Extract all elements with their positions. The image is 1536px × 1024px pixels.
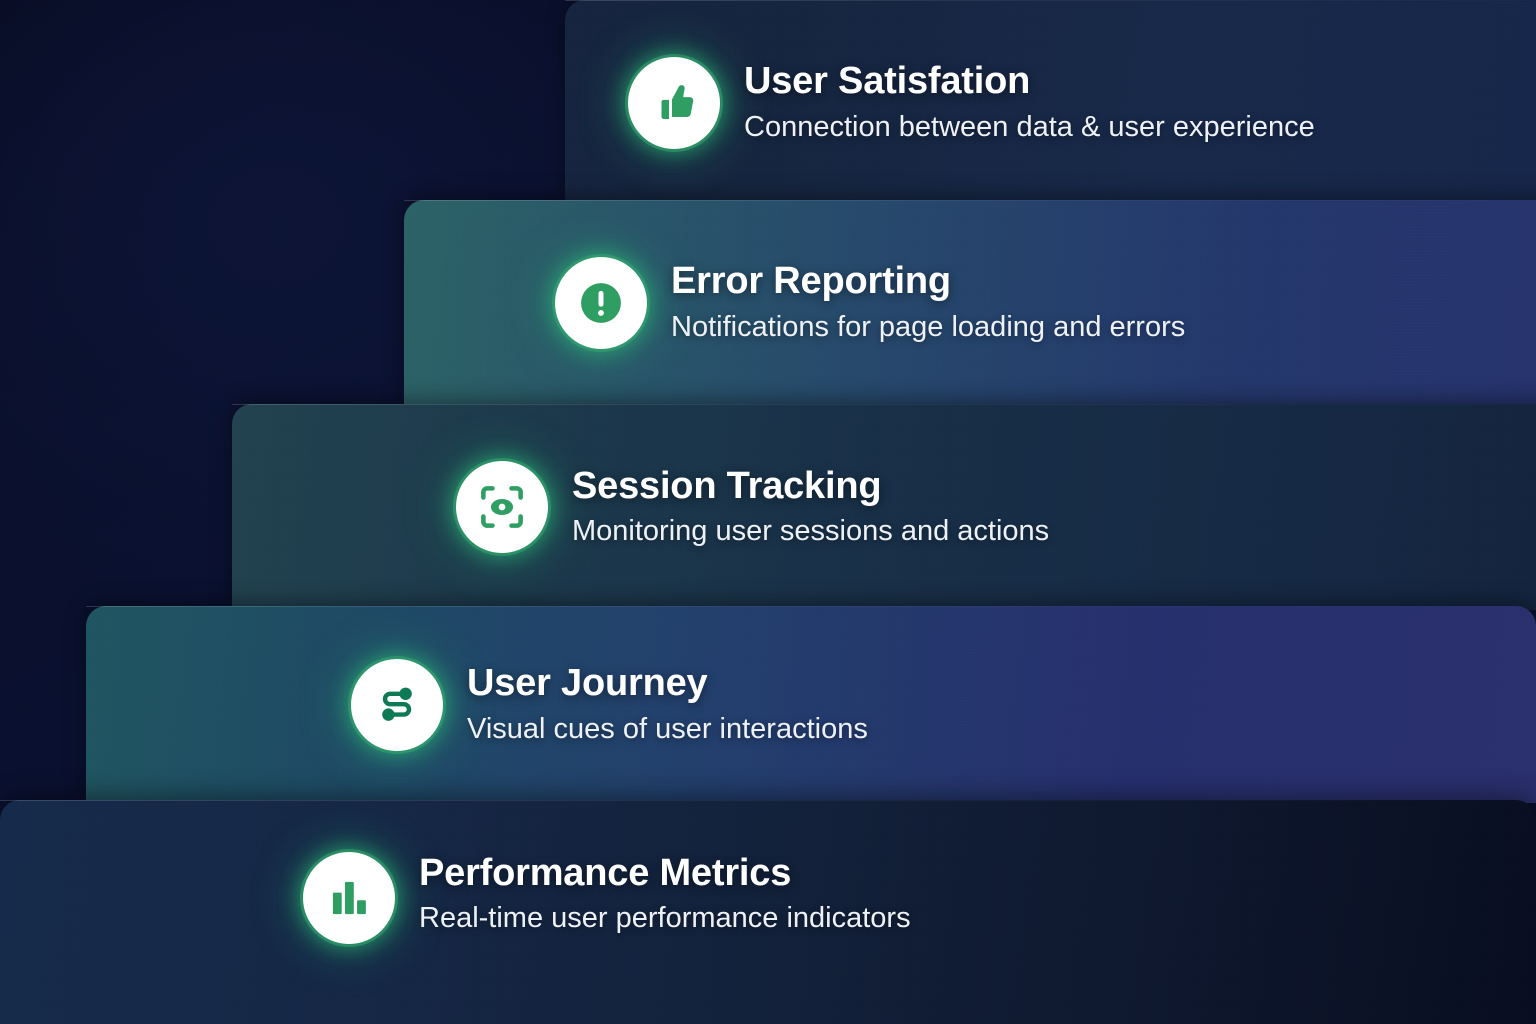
step-card-error-reporting[interactable]: Error Reporting Notifications for page l… xyxy=(404,200,1536,405)
step-title: Error Reporting xyxy=(671,260,1185,303)
step-card-user-satisfation[interactable]: User Satisfation Connection between data… xyxy=(565,0,1536,205)
thumbs-up-icon-badge xyxy=(628,57,720,149)
bar-chart-icon xyxy=(326,875,372,921)
step-subtitle: Notifications for page loading and error… xyxy=(671,310,1185,345)
bar-chart-icon-badge xyxy=(303,852,395,944)
step-card-user-journey[interactable]: User Journey Visual cues of user interac… xyxy=(86,606,1536,803)
route-icon-badge xyxy=(351,659,443,751)
step-subtitle: Visual cues of user interactions xyxy=(467,712,868,747)
step-subtitle: Monitoring user sessions and actions xyxy=(572,514,1049,549)
step-copy: User Journey Visual cues of user interac… xyxy=(467,662,868,746)
step-title: User Satisfation xyxy=(744,60,1315,103)
step-subtitle: Real-time user performance indicators xyxy=(419,901,911,936)
thumbs-up-icon xyxy=(649,78,699,128)
step-copy: User Satisfation Connection between data… xyxy=(744,60,1315,144)
step-card-performance-metrics[interactable]: Performance Metrics Real-time user perfo… xyxy=(0,800,1536,1024)
scan-eye-icon xyxy=(476,481,528,533)
step-copy: Session Tracking Monitoring user session… xyxy=(572,465,1049,549)
alert-circle-icon xyxy=(575,277,627,329)
step-copy: Error Reporting Notifications for page l… xyxy=(671,260,1185,344)
alert-circle-icon-badge xyxy=(555,257,647,349)
step-title: User Journey xyxy=(467,662,868,705)
step-title: Performance Metrics xyxy=(419,852,911,895)
route-icon xyxy=(373,681,421,729)
feature-staircase: User Satisfation Connection between data… xyxy=(0,0,1536,1024)
scan-eye-icon-badge xyxy=(456,461,548,553)
step-title: Session Tracking xyxy=(572,465,1049,508)
step-card-session-tracking[interactable]: Session Tracking Monitoring user session… xyxy=(232,404,1536,610)
step-subtitle: Connection between data & user experienc… xyxy=(744,110,1315,145)
step-copy: Performance Metrics Real-time user perfo… xyxy=(419,852,911,936)
